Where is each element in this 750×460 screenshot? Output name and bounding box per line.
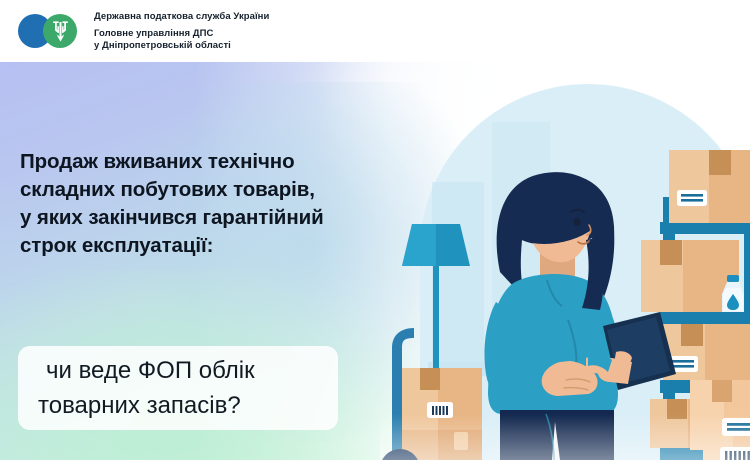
agency-logo — [18, 9, 86, 53]
headline-line-3: у яких закінчився гарантійний — [20, 204, 400, 232]
question-line-2: товарних запасів? — [34, 388, 322, 423]
headline-line-4: строк експлуатації: — [20, 232, 400, 260]
question-card: чи веде ФОП облік товарних запасів? — [18, 346, 338, 430]
headline-line-1: Продаж вживаних технічно — [20, 148, 400, 176]
logo-green-circle-icon — [43, 14, 77, 48]
agency-name-block: Державна податкова служба України Головн… — [94, 10, 269, 53]
header-bar: Державна податкова служба України Головн… — [0, 0, 750, 62]
agency-name-national: Державна податкова служба України — [94, 10, 269, 24]
question-line-1: чи веде ФОП облік — [34, 353, 322, 388]
agency-name-regional-line1: Головне управління ДПС — [94, 28, 269, 41]
content-area: Продаж вживаних технічно складних побуто… — [0, 62, 750, 460]
agency-name-regional-line2: у Дніпропетровській області — [94, 40, 269, 53]
infographic-canvas: Державна податкова служба України Головн… — [0, 0, 750, 460]
headline-line-2: складних побутових товарів, — [20, 176, 400, 204]
headline-block: Продаж вживаних технічно складних побуто… — [20, 148, 400, 260]
ukrainian-trident-icon — [52, 21, 69, 42]
